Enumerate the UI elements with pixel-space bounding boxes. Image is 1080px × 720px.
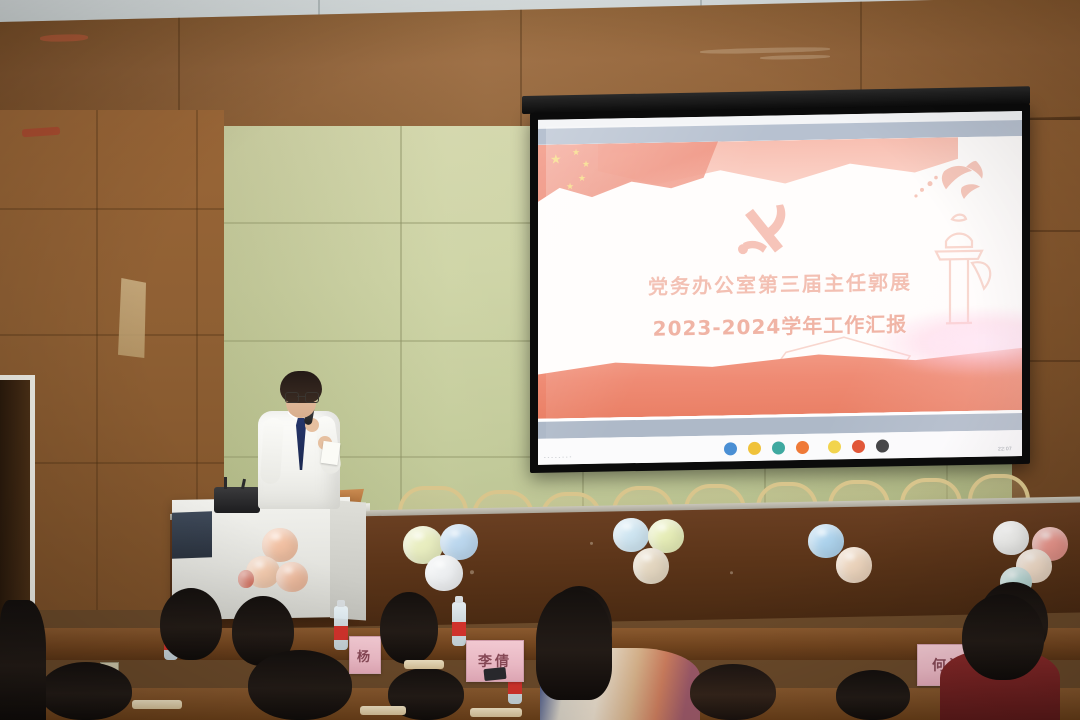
water-bottle [334, 606, 348, 650]
cpc-emblem-icon [731, 198, 803, 265]
balloon [633, 548, 669, 584]
balloon [808, 524, 844, 558]
podium-side-panel [330, 500, 366, 621]
snack-item [470, 708, 522, 717]
projection-screen[interactable]: ★ ★ ★ ★ ★ [530, 104, 1030, 473]
taskbar-blue-app-icon[interactable] [724, 442, 737, 455]
chinese-flag-icon: ★ ★ ★ ★ ★ [538, 142, 718, 207]
water-bottle [452, 602, 466, 646]
audience-head [40, 662, 132, 720]
screen-surface: ★ ★ ★ ★ ★ [538, 111, 1022, 465]
av-equipment [214, 487, 260, 513]
snack-item [404, 660, 444, 669]
audience-head [160, 588, 222, 660]
snack-item [132, 700, 182, 709]
namecard-yang: 杨 [349, 636, 381, 674]
glasses-icon [285, 392, 317, 401]
taskbar-red-app-icon[interactable] [852, 440, 865, 453]
taskbar-orange-browser-icon[interactable] [796, 441, 809, 454]
audience-head [248, 650, 352, 720]
audience-head [536, 590, 612, 700]
audience-head [0, 600, 46, 720]
balloon [238, 570, 254, 588]
mobile-phone [483, 667, 506, 681]
audience-head [690, 664, 776, 720]
taskbar-yellow-folder-icon[interactable] [748, 442, 761, 455]
taskbar-media-icon[interactable] [876, 439, 889, 452]
balloon [276, 562, 308, 592]
balloon [425, 555, 463, 591]
taskbar-teal-app-icon[interactable] [772, 441, 785, 454]
taskbar-clock: 22:07 [998, 446, 1012, 452]
balloon [836, 547, 872, 583]
balloon [613, 518, 649, 552]
speaker-script-paper [321, 441, 341, 465]
balloon [993, 521, 1029, 555]
wall-marking [22, 127, 60, 138]
podium-equipment-panel [172, 511, 212, 558]
audience-head [836, 670, 910, 720]
snack-item [360, 706, 406, 715]
audience-head [380, 592, 438, 664]
tape-patch [118, 278, 146, 358]
presentation-slide: ★ ★ ★ ★ ★ [538, 136, 1022, 419]
audience-head [962, 594, 1044, 680]
taskbar-yellow-chat-icon[interactable] [828, 440, 841, 453]
photo-scene: ★ ★ ★ ★ ★ [0, 0, 1080, 720]
